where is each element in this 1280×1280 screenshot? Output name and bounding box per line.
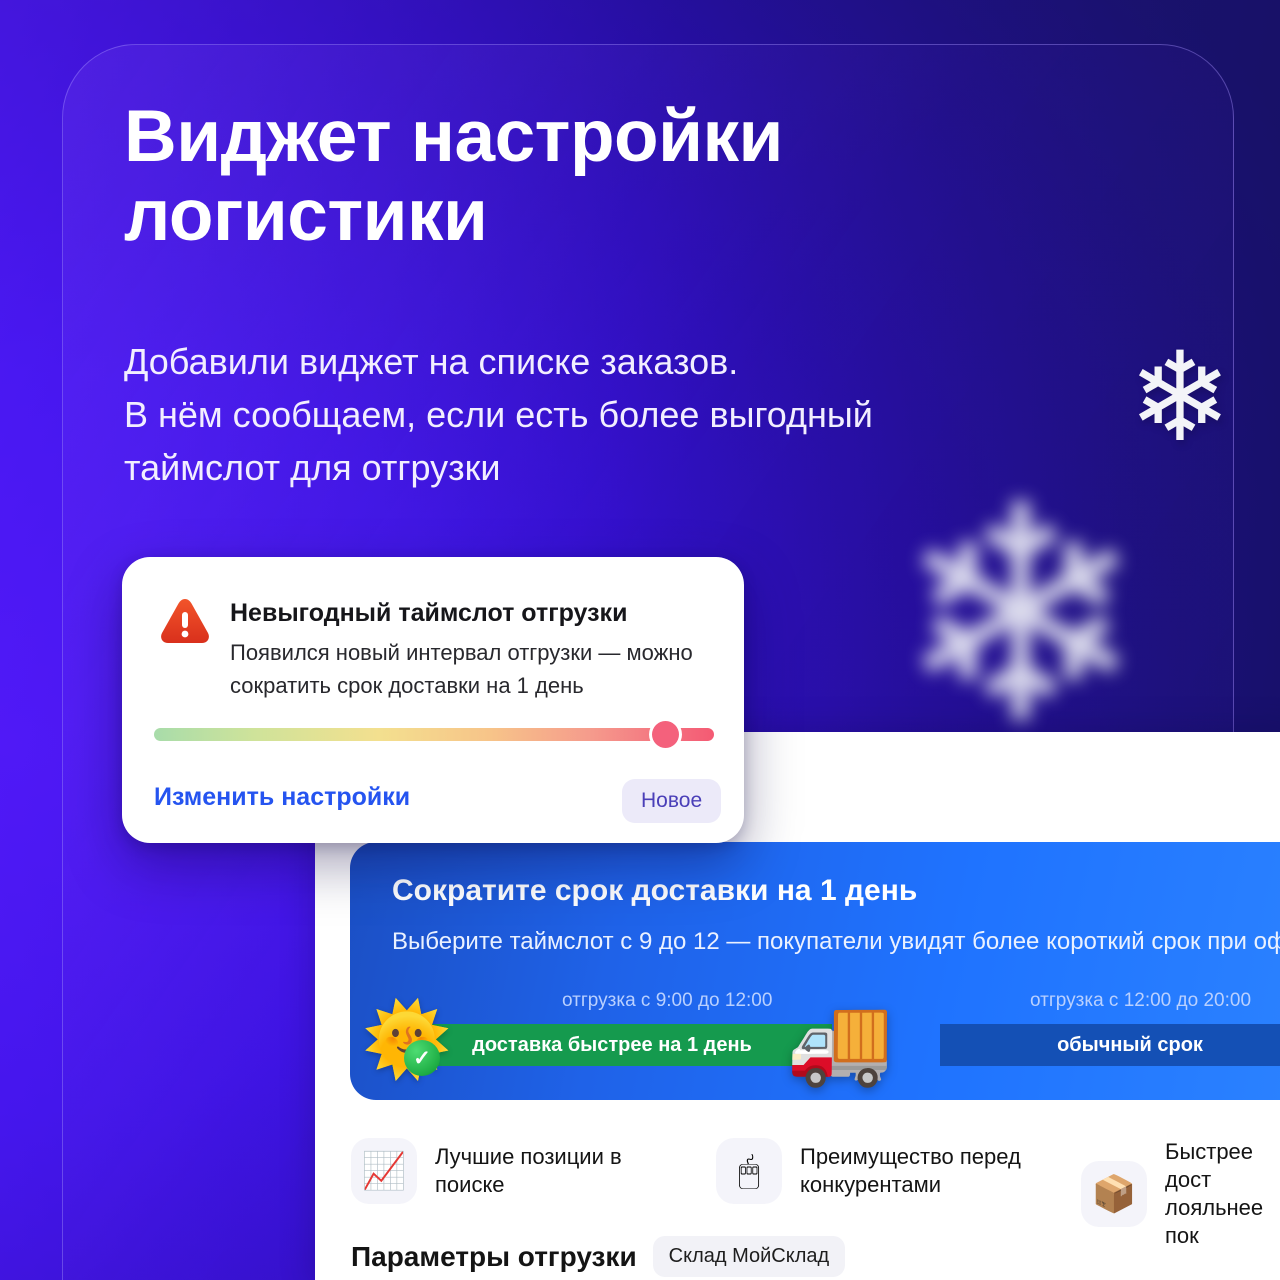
gift-box-icon: 📦 bbox=[1081, 1161, 1147, 1227]
timeline-left-caption: отгрузка с 9:00 до 12:00 bbox=[562, 990, 772, 1012]
shipping-params-row: Параметры отгрузки Склад МойСклад bbox=[351, 1236, 845, 1277]
timeslot-slider[interactable] bbox=[154, 719, 714, 749]
promo-title: Сократите срок доставки на 1 день bbox=[392, 874, 917, 908]
timeline-fast-bar: доставка быстрее на 1 день bbox=[392, 1024, 832, 1066]
timeline-right-caption: отгрузка с 12:00 до 20:00 bbox=[1030, 990, 1251, 1012]
timeslot-slider-thumb[interactable] bbox=[652, 721, 679, 748]
snowflake-icon: ❄ bbox=[1128, 336, 1232, 460]
feature-item: 📦 Быстрее дост лояльнее пок bbox=[1081, 1138, 1280, 1251]
check-circle-icon: ✓ bbox=[404, 1040, 440, 1076]
timeline-normal-bar-label: обычный срок bbox=[1057, 1034, 1203, 1057]
delivery-truck-icon: 🚚 bbox=[786, 998, 893, 1084]
timeline-fast-bar-label: доставка быстрее на 1 день bbox=[472, 1034, 752, 1057]
shipping-params-title: Параметры отгрузки bbox=[351, 1241, 637, 1273]
check-glyph: ✓ bbox=[413, 1046, 431, 1071]
page-subtitle: Добавили виджет на списке заказов. В нём… bbox=[124, 336, 1104, 495]
notification-title: Невыгодный таймслот отгрузки bbox=[230, 599, 627, 628]
snowflake-icon: ❄ bbox=[895, 466, 1146, 766]
alert-triangle-icon bbox=[159, 597, 211, 645]
page-title-line-2: логистики bbox=[124, 177, 1084, 256]
new-badge: Новое bbox=[622, 779, 721, 823]
feature-label: Быстрее дост лояльнее пок bbox=[1165, 1138, 1280, 1251]
timeline-normal-bar: обычный срок bbox=[940, 1024, 1280, 1066]
page-title: Виджет настройки логистики bbox=[124, 98, 1084, 256]
notification-body: Появился новый интервал отгрузки — можно… bbox=[230, 637, 700, 702]
timeslot-slider-track bbox=[154, 728, 714, 741]
page-subtitle-line-2: В нём сообщаем, если есть более выгодный bbox=[124, 389, 1104, 442]
promo-subtitle: Выберите таймслот с 9 до 12 — покупатели… bbox=[392, 928, 1280, 956]
notification-widget-card: Невыгодный таймслот отгрузки Появился но… bbox=[122, 557, 744, 843]
feature-item: 🖱 Преимущество перед конкурентами bbox=[716, 1138, 1050, 1204]
cursor-click-icon: 🖱 bbox=[716, 1138, 782, 1204]
page-subtitle-line-3: таймслот для отгрузки bbox=[124, 442, 1104, 495]
promo-banner: Сократите срок доставки на 1 день Выбери… bbox=[350, 842, 1280, 1100]
page-title-line-1: Виджет настройки bbox=[124, 98, 1084, 177]
feature-item: 📈 Лучшие позиции в поиске bbox=[351, 1138, 685, 1204]
shipping-timeline: отгрузка с 9:00 до 12:00 отгрузка с 12:0… bbox=[350, 982, 1280, 1092]
change-settings-link[interactable]: Изменить настройки bbox=[154, 783, 410, 812]
page-subtitle-line-1: Добавили виджет на списке заказов. bbox=[124, 336, 1104, 389]
feature-label: Преимущество перед конкурентами bbox=[800, 1143, 1050, 1199]
warehouse-chip[interactable]: Склад МойСклад bbox=[653, 1236, 846, 1277]
feature-label: Лучшие позиции в поиске bbox=[435, 1143, 685, 1199]
chart-growth-icon: 📈 bbox=[351, 1138, 417, 1204]
